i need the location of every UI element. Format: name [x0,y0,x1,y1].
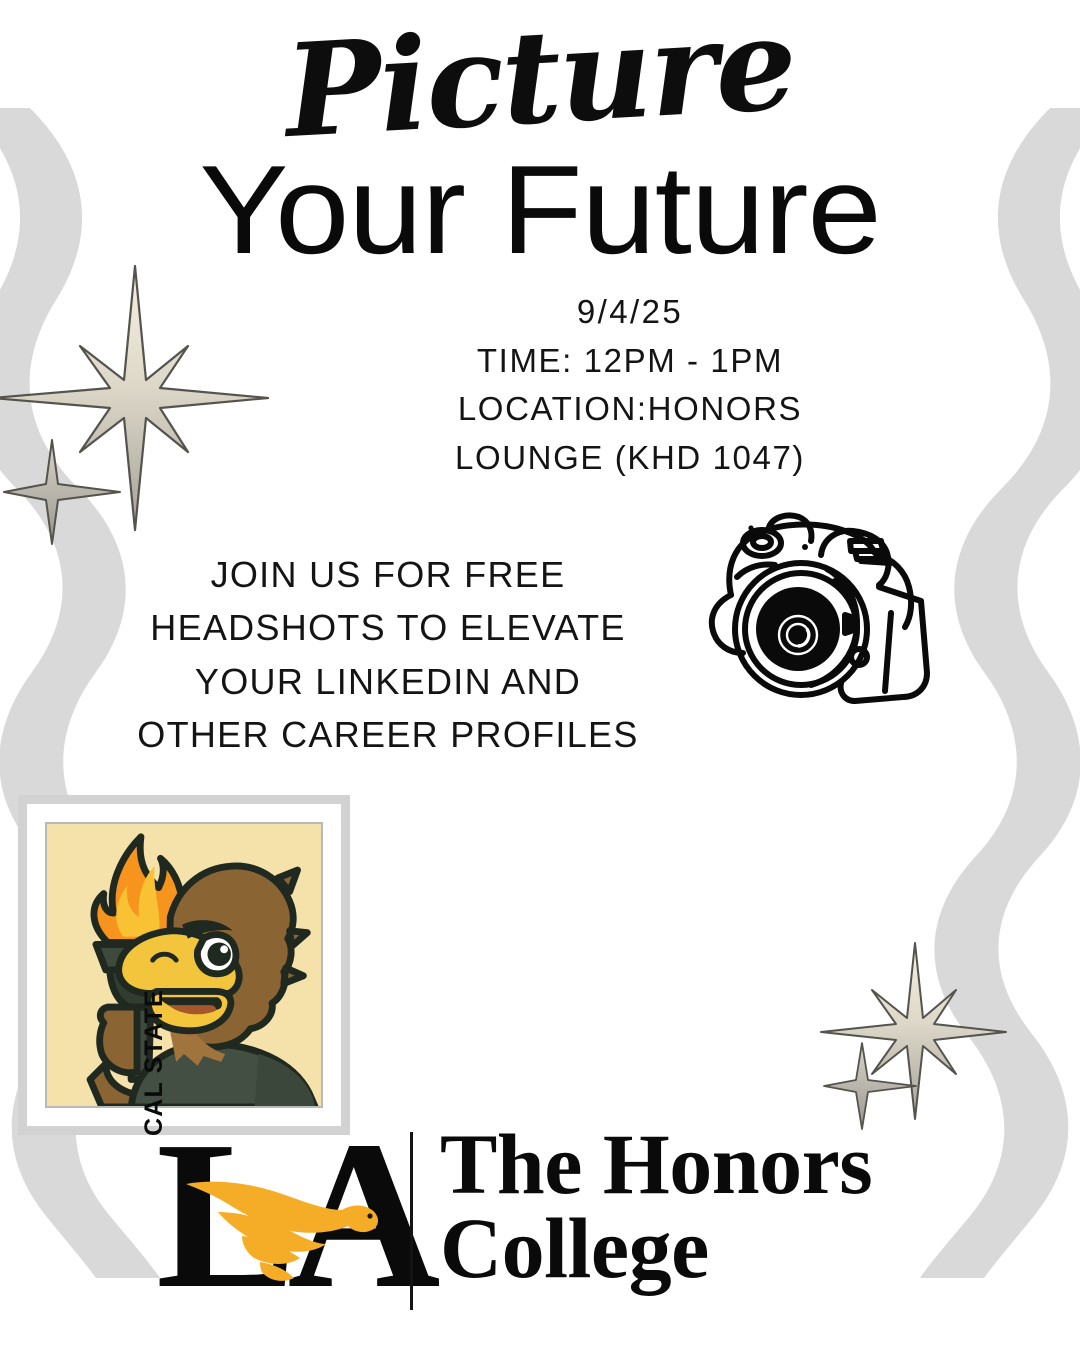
description-line-4: OTHER CAREER PROFILES [78,708,698,761]
page-title-main: Your Future [0,146,1080,275]
cal-state-la-honors-logo: CAL STATE LA The Honors College [128,1128,938,1318]
honors-line-1: The Honors [440,1122,872,1206]
description-line-1: JOIN US FOR FREE [78,548,698,601]
eagle-mascot-illustration [47,824,321,1106]
event-description: JOIN US FOR FREE HEADSHOTS TO ELEVATE YO… [78,548,698,761]
golden-eagle-icon [184,1166,384,1284]
event-details: 9/4/25 TIME: 12PM - 1PM LOCATION:HONORS … [330,288,930,482]
description-line-2: HEADSHOTS TO ELEVATE [78,601,698,654]
event-date: 9/4/25 [330,288,930,337]
honors-college-wordmark: The Honors College [440,1122,872,1291]
camera-icon [695,495,950,725]
event-location-line-2: LOUNGE (KHD 1047) [330,434,930,483]
event-time: TIME: 12PM - 1PM [330,337,930,386]
honors-line-2: College [440,1206,872,1290]
mascot-photo-frame [18,795,350,1135]
sparkle-small-top-left [2,436,122,548]
description-line-3: YOUR LINKEDIN AND [78,655,698,708]
event-location-line-1: LOCATION:HONORS [330,385,930,434]
flyer-poster: Picture Your Future 9/4/25 TIME: 12PM - … [0,0,1080,1350]
logo-divider [410,1132,413,1310]
mascot-photo [45,822,323,1108]
